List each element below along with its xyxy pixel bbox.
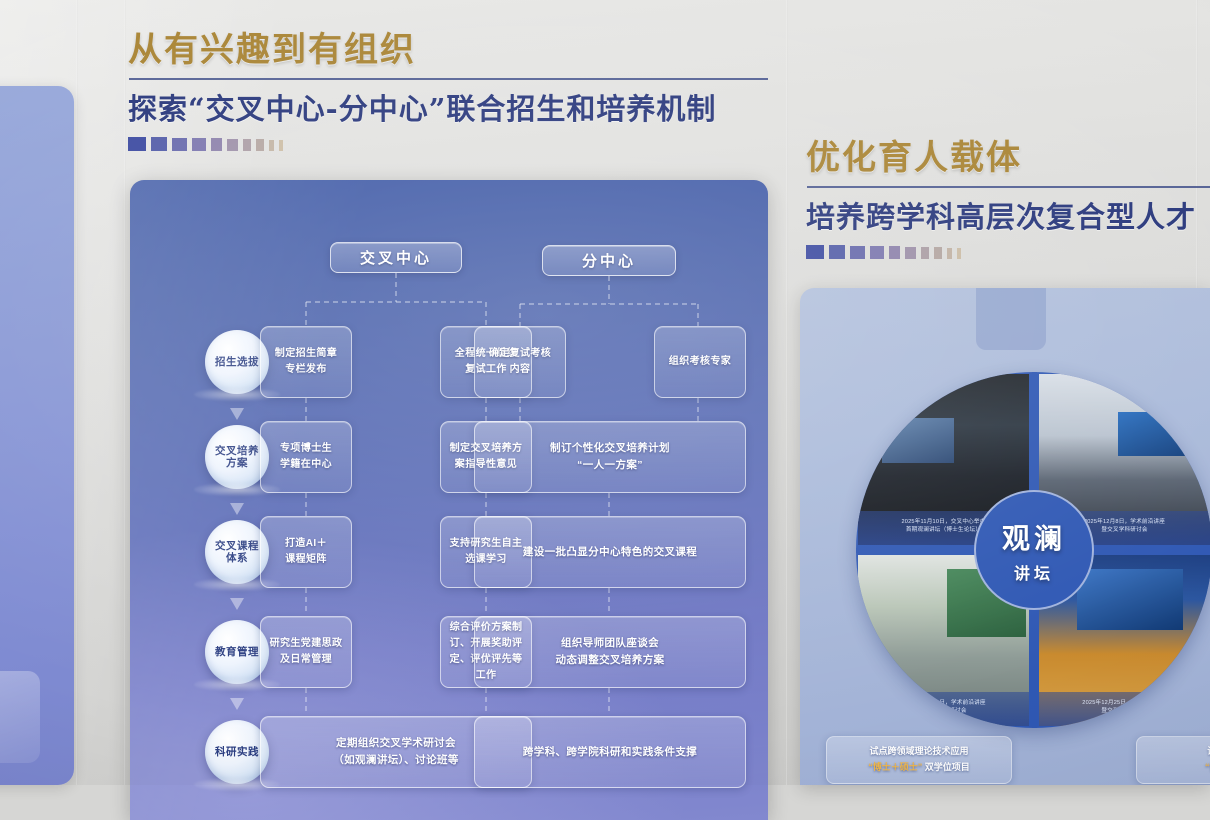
decor-square [256, 139, 263, 151]
left-decor-squares [128, 137, 768, 151]
decor-square [243, 139, 252, 151]
flow-card-r1-c1[interactable]: 制定招生简章专栏发布 [260, 326, 352, 398]
dd1-post: 双学位项目 [925, 762, 970, 772]
flow-card-r2-c3[interactable]: 制订个性化交叉培养计划“一人一方案” [474, 421, 746, 493]
flow-card-r3-c1[interactable]: 打造AI＋课程矩阵 [260, 516, 352, 588]
photo-collage-circle: 2025年11月10日，交叉中心举办首期观澜讲坛（博士生论坛） 2025年12月… [856, 372, 1210, 728]
stage-flow-arrow [230, 503, 244, 515]
decor-square [151, 137, 167, 151]
flow-card-text: 制订个性化交叉培养计划“一人一方案” [550, 440, 670, 474]
right-title-rule [807, 186, 1210, 188]
dd1-pre: 试点跨领域理论技术应用 [869, 746, 968, 756]
flow-card-r5-c2[interactable]: 跨学科、跨学院科研和实践条件支撑 [474, 716, 746, 788]
flow-card-text: 专项博士生学籍在中心 [280, 441, 332, 473]
flow-card-text: 打造AI＋课程矩阵 [285, 536, 327, 568]
badge-line-1: 观澜 [1002, 517, 1066, 557]
decor-square [850, 246, 865, 259]
right-poster-header: 优化育人载体 培养跨学科高层次复合型人才 [806, 130, 1210, 259]
decor-square [829, 245, 845, 259]
flow-card-text: 研究生党建思政及日常管理 [270, 636, 343, 668]
decor-square [806, 245, 824, 259]
stage-flow-arrow [230, 698, 244, 710]
stage-label: 交叉培养方案 [215, 445, 259, 470]
decor-square [934, 247, 941, 259]
stage-label: 交叉课程体系 [215, 540, 259, 565]
flow-card-text: 跨学科、跨学院科研和实践条件支撑 [523, 744, 697, 761]
left-poster-header: 从有兴趣到有组织 探索“交叉中心-分中心”联合招生和培养机制 [128, 22, 768, 151]
collage-photo-caption: 2025年12月12日，学术前沿讲座暨交叉学科研讨会 [858, 692, 1029, 726]
flow-card-r4-c1[interactable]: 研究生党建思政及日常管理 [260, 616, 352, 688]
collage-photo-caption: 2025年12月25日，学术前沿讲座暨交叉学科研讨会 [1039, 692, 1210, 726]
flow-diagram-board: 交叉中心 分中心 招生选拔交叉培养方案交叉课程体系教育管理科研实践 [130, 180, 768, 820]
decor-square [947, 248, 953, 259]
decor-square [192, 138, 205, 151]
decor-square [172, 138, 187, 151]
decor-square [905, 247, 915, 259]
decor-square [921, 247, 930, 259]
guanlan-forum-badge: 观澜 讲坛 [974, 490, 1094, 610]
wall-seam [76, 0, 78, 785]
dual-degree-card-1[interactable]: 试点跨领域理论技术应用 “博士＋硕士” 双学位项目 [826, 736, 1012, 784]
left-title-gold: 从有兴趣到有组织 [128, 22, 768, 71]
right-decor-squares [806, 245, 1210, 259]
flow-card-r2-c1[interactable]: 专项博士生学籍在中心 [260, 421, 352, 493]
decor-square [870, 246, 883, 259]
badge-line-2: 讲坛 [1014, 560, 1054, 584]
stage-label: 教育管理 [215, 646, 259, 658]
flow-card-text: 定期组织交叉学术研讨会（如观澜讲坛）、讨论班等 [333, 735, 459, 769]
decor-square [211, 138, 223, 151]
decor-square [128, 137, 146, 151]
flow-card-r1-c4[interactable]: 组织考核专家 [654, 326, 746, 398]
panel-notch-decor [976, 288, 1046, 350]
header-sub-center[interactable]: 分中心 [542, 245, 676, 276]
stage-label: 招生选拔 [215, 356, 259, 368]
flow-card-r1-c3[interactable]: 确定复试考核内容 [474, 326, 566, 398]
flow-card-text: 确定复试考核内容 [489, 346, 551, 378]
adjacent-panel-card-partial [0, 671, 40, 763]
stage-label: 科研实践 [215, 746, 259, 758]
flow-card-r4-c3[interactable]: 组织导师团队座谈会动态调整交叉培养方案 [474, 616, 746, 688]
decor-square [957, 248, 961, 259]
dd1-highlight: “博士＋硕士” [868, 762, 922, 772]
right-subtitle: 培养跨学科高层次复合型人才 [806, 194, 1210, 236]
stage-flow-arrow [230, 408, 244, 420]
flow-card-text: 建设一批凸显分中心特色的交叉课程 [523, 544, 697, 561]
header-cross-center[interactable]: 交叉中心 [330, 242, 462, 273]
dual-degree-card-2[interactable]: 试点重大... “博士＋博... [1136, 736, 1210, 784]
flow-card-r3-c3[interactable]: 建设一批凸显分中心特色的交叉课程 [474, 516, 746, 588]
decor-square [279, 140, 283, 151]
decor-square [269, 140, 275, 151]
right-panel-board: 2025年11月10日，交叉中心举办首期观澜讲坛（博士生论坛） 2025年12月… [800, 288, 1210, 785]
dd2-highlight: “博士＋博... [1205, 762, 1210, 772]
flow-card-text: 制定招生简章专栏发布 [275, 346, 337, 378]
flow-card-text: 组织导师团队座谈会动态调整交叉培养方案 [556, 635, 665, 669]
left-title-rule [129, 78, 768, 80]
right-title-gold: 优化育人载体 [806, 130, 1210, 179]
decor-square [227, 139, 237, 151]
wall-seam [786, 0, 788, 785]
flow-card-text: 组织考核专家 [669, 354, 731, 370]
decor-square [889, 246, 901, 259]
wall-seam [124, 0, 126, 785]
left-subtitle: 探索“交叉中心-分中心”联合招生和培养机制 [128, 86, 768, 128]
stage-flow-arrow [230, 598, 244, 610]
